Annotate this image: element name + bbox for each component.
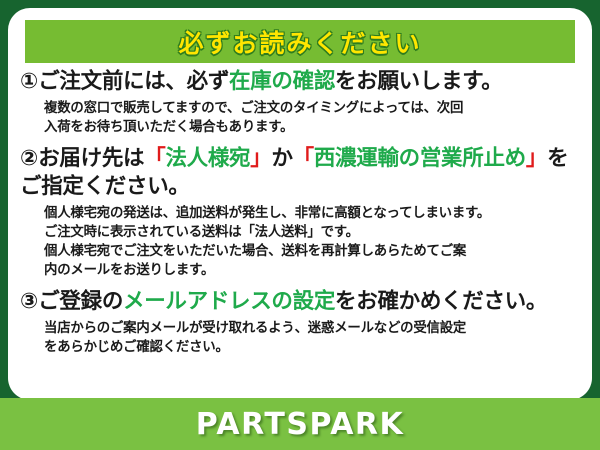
notice-item-2-bracket-open-1: 「 <box>144 146 165 171</box>
notice-item-3-sub-line-2: をあらかじめご確認ください。 <box>44 338 582 357</box>
notice-item-1-sub: 複数の窓口で販売してますので、ご注文のタイミングによっては、次回 入荷をお待ち頂… <box>20 96 582 137</box>
notice-item-3: ③ご登録のメールアドレスの設定をお確かめください。 当店からのご案内メールが受け… <box>20 288 582 357</box>
notice-item-2-bracket-open-2: 「 <box>293 146 314 171</box>
notice-item-3-marker: ③ <box>20 289 38 314</box>
notice-item-1-heading-part2: をお願いします。 <box>335 69 502 94</box>
notice-item-1-highlight: 在庫の確認 <box>229 69 335 94</box>
notice-card: 必ずお読みください ①ご注文前には、必ず在庫の確認をお願いします。 複数の窓口で… <box>8 8 592 400</box>
notice-item-2-highlight-2: 西濃運輸の営業所止め <box>314 146 526 171</box>
notice-item-2-heading: ②お届け先は「法人様宛」か「西濃運輸の営業所止め」をご指定ください。 <box>20 145 582 201</box>
notice-item-2-sub-line-2: ご注文時に表示されている送料は「法人送料」です。 <box>44 223 582 242</box>
notice-item-1-heading: ①ご注文前には、必ず在庫の確認をお願いします。 <box>20 68 582 96</box>
notice-banner: 必ずお読みください ①ご注文前には、必ず在庫の確認をお願いします。 複数の窓口で… <box>0 0 600 450</box>
notice-item-1-sub-line-2: 入荷をお待ち頂いただく場合もあります。 <box>44 118 582 137</box>
notice-item-1-heading-part1: ご注文前には、必ず <box>38 69 229 94</box>
notice-item-2-sub-line-3: 個人様宅宛でご注文をいただいた場合、送料を再計算しあらためてご案 <box>44 242 582 261</box>
notice-item-3-sub: 当店からのご案内メールが受け取れるよう、迷惑メールなどの受信設定 をあらかじめご… <box>20 316 582 357</box>
notice-item-2-heading-part1: お届け先は <box>38 146 144 171</box>
notice-item-1-sub-line-1: 複数の窓口で販売してますので、ご注文のタイミングによっては、次回 <box>44 99 582 118</box>
notice-item-3-sub-line-1: 当店からのご案内メールが受け取れるよう、迷惑メールなどの受信設定 <box>44 319 582 338</box>
notice-item-3-highlight: メールアドレスの設定 <box>123 289 335 314</box>
notice-item-2: ②お届け先は「法人様宛」か「西濃運輸の営業所止め」をご指定ください。 個人様宅宛… <box>20 145 582 280</box>
page-title: 必ずお読みください <box>178 24 421 60</box>
notice-item-2-marker: ② <box>20 146 38 171</box>
notice-header-band: 必ずお読みください <box>25 20 575 63</box>
notice-body: ①ご注文前には、必ず在庫の確認をお願いします。 複数の窓口で販売してますので、ご… <box>8 68 592 365</box>
notice-item-2-bracket-close-1: 」 <box>250 146 271 171</box>
notice-item-2-bracket-close-2: 」 <box>526 146 547 171</box>
notice-item-2-sub-line-4: 内のメールをお送りします。 <box>44 261 582 280</box>
footer-brand-bar: PARTSPARK <box>0 398 600 450</box>
notice-item-2-heading-part2: か <box>271 146 292 171</box>
notice-item-1: ①ご注文前には、必ず在庫の確認をお願いします。 複数の窓口で販売してますので、ご… <box>20 68 582 137</box>
notice-item-2-sub: 個人様宅宛の発送は、追加送料が発生し、非常に高額となってしまいます。 ご注文時に… <box>20 201 582 280</box>
notice-item-3-heading-part1: ご登録の <box>38 289 123 314</box>
notice-item-1-marker: ① <box>20 69 38 94</box>
notice-item-2-sub-line-1: 個人様宅宛の発送は、追加送料が発生し、非常に高額となってしまいます。 <box>44 204 582 223</box>
notice-item-3-heading: ③ご登録のメールアドレスの設定をお確かめください。 <box>20 288 582 316</box>
notice-item-3-heading-part2: をお確かめください。 <box>335 289 547 314</box>
notice-item-2-highlight-1: 法人様宛 <box>165 146 250 171</box>
brand-logo: PARTSPARK <box>196 407 405 442</box>
